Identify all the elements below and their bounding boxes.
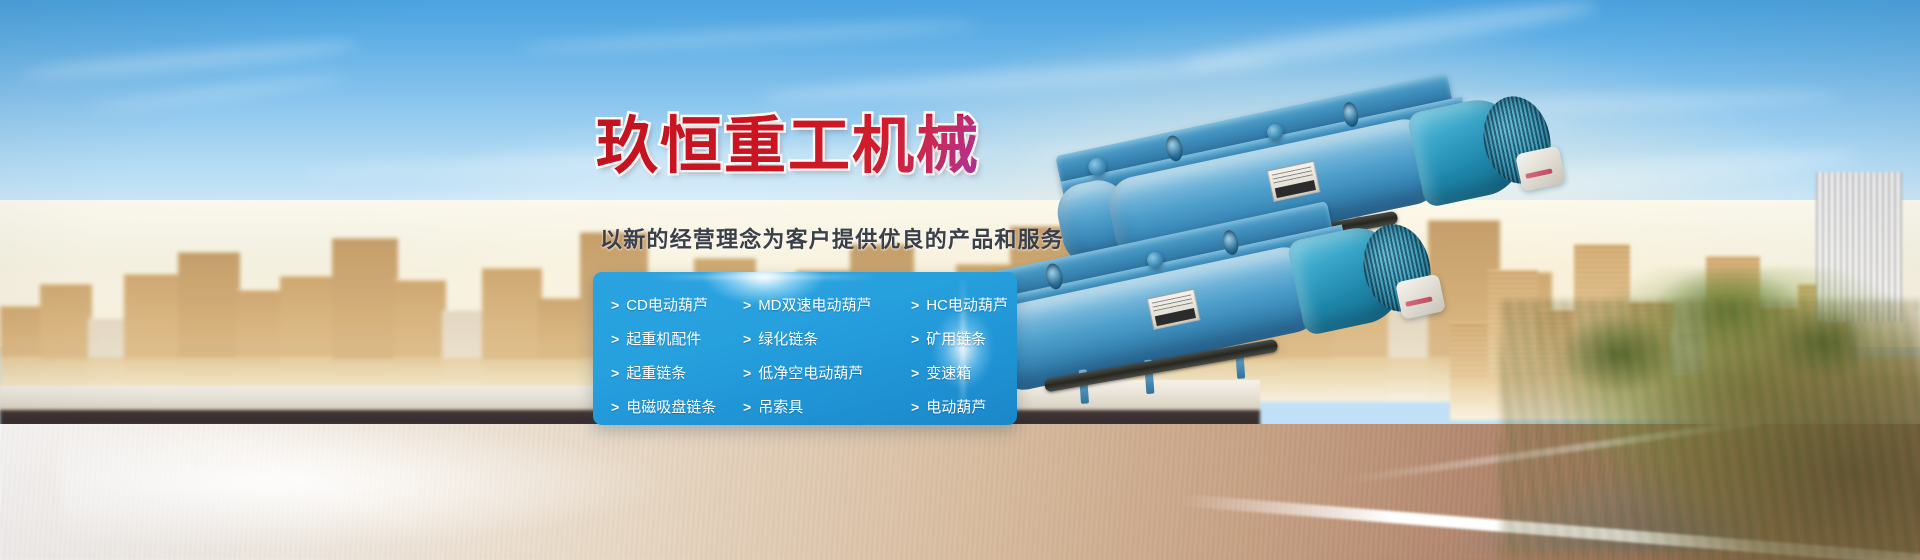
- chevron-right-icon: >: [911, 400, 919, 414]
- product-category-grid: > CD电动葫芦 > MD双速电动葫芦 > HC电动葫芦 > 起重机配件 > 绿…: [593, 272, 1017, 424]
- product-link-electric-hoist[interactable]: > 电动葫芦: [911, 400, 1017, 415]
- product-link-hc-hoist[interactable]: > HC电动葫芦: [911, 298, 1017, 313]
- chevron-right-icon: >: [911, 298, 919, 312]
- product-link-gearbox[interactable]: > 变速箱: [911, 366, 1017, 381]
- product-link-label: 低净空电动葫芦: [758, 366, 863, 381]
- product-link-label: CD电动葫芦: [626, 298, 708, 313]
- product-link-slings[interactable]: > 吊索具: [743, 400, 911, 415]
- chevron-right-icon: >: [743, 298, 751, 312]
- product-link-crane-parts[interactable]: > 起重机配件: [611, 332, 743, 347]
- product-link-label: 吊索具: [758, 400, 803, 415]
- page-subtitle: 以新的经营理念为客户提供优良的产品和服务: [600, 222, 1064, 254]
- page-title: 玖恒重工机械: [596, 116, 980, 178]
- hill-motion-blur: [1500, 300, 1920, 560]
- product-link-label: 变速箱: [926, 366, 971, 381]
- product-link-greening-chain[interactable]: > 绿化链条: [743, 332, 911, 347]
- chevron-right-icon: >: [611, 332, 619, 346]
- product-link-label: MD双速电动葫芦: [758, 298, 871, 313]
- product-link-md-dual-speed-hoist[interactable]: > MD双速电动葫芦: [743, 298, 911, 313]
- product-category-panel: > CD电动葫芦 > MD双速电动葫芦 > HC电动葫芦 > 起重机配件 > 绿…: [593, 272, 1017, 425]
- product-link-label: 绿化链条: [758, 332, 818, 347]
- chevron-right-icon: >: [611, 400, 619, 414]
- product-link-label: 矿用链条: [926, 332, 986, 347]
- product-link-low-headroom-hoist[interactable]: > 低净空电动葫芦: [743, 366, 911, 381]
- product-link-label: 电磁吸盘链条: [626, 400, 716, 415]
- product-link-mining-chain[interactable]: > 矿用链条: [911, 332, 1017, 347]
- chevron-right-icon: >: [743, 366, 751, 380]
- chevron-right-icon: >: [611, 298, 619, 312]
- product-link-cd-hoist[interactable]: > CD电动葫芦: [611, 298, 743, 313]
- chevron-right-icon: >: [911, 366, 919, 380]
- product-link-label: 起重机配件: [626, 332, 701, 347]
- chevron-right-icon: >: [611, 366, 619, 380]
- product-link-label: 电动葫芦: [926, 400, 986, 415]
- product-link-magnetic-chuck-chain[interactable]: > 电磁吸盘链条: [611, 400, 743, 415]
- road-highlight: [60, 430, 980, 550]
- product-link-lifting-chain[interactable]: > 起重链条: [611, 366, 743, 381]
- product-link-label: 起重链条: [626, 366, 686, 381]
- chevron-right-icon: >: [911, 332, 919, 346]
- hero-banner: 玖恒重工机械 玖恒重工机械 以新的经营理念为客户提供优良的产品和服务 > CD电…: [0, 0, 1920, 560]
- product-link-label: HC电动葫芦: [926, 298, 1008, 313]
- chevron-right-icon: >: [743, 400, 751, 414]
- chevron-right-icon: >: [743, 332, 751, 346]
